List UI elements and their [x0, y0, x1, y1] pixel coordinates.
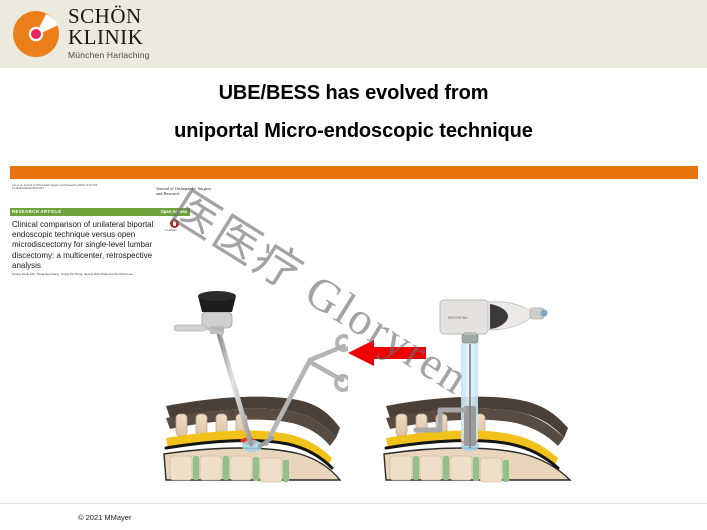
- brand-logo: SCHÖN KLINIK München Harlaching: [12, 8, 187, 60]
- title-line-1: UBE/BESS has evolved from: [0, 74, 707, 112]
- footer-divider: [0, 503, 707, 504]
- journal-article-thumbnail: Kim et al. Journal of Orthopaedic Surger…: [10, 182, 190, 290]
- journal-name: Journal of Orthopaedic Surgery and Resea…: [156, 186, 216, 197]
- article-section-label: RESEARCH ARTICLE: [12, 209, 62, 214]
- biportal-endoscopic-technique-illustration: [148, 288, 348, 483]
- open-access-label: Open Access: [161, 209, 187, 214]
- article-access-band: RESEARCH ARTICLE Open Access: [10, 208, 190, 216]
- brand-line-1: SCHÖN: [68, 6, 150, 26]
- article-authors: Seung-Kook Kim, Sang-Soo Kang, Young-Ho …: [12, 272, 177, 276]
- footer-copyright: © 2021 MMayer: [78, 513, 131, 522]
- crossmark-icon: [170, 219, 179, 228]
- schoen-klinik-circle-logo-icon: [12, 10, 60, 58]
- brand-wordmark: SCHÖN KLINIK München Harlaching: [68, 6, 150, 60]
- slide-title: UBE/BESS has evolved from uniportal Micr…: [0, 74, 707, 150]
- article-title: Clinical comparison of unilateral biport…: [12, 220, 162, 271]
- brand-line-2: KLINIK: [68, 27, 150, 47]
- title-line-2: uniportal Micro-endoscopic technique: [0, 112, 707, 150]
- svg-text:MEDTRONIC: MEDTRONIC: [448, 316, 469, 320]
- slide: SCHÖN KLINIK München Harlaching UBE/BESS…: [0, 0, 707, 530]
- article-citation: Kim et al. Journal of Orthopaedic Surger…: [12, 184, 117, 191]
- brand-subtitle: München Harlaching: [68, 50, 150, 60]
- orange-divider: [10, 166, 698, 179]
- uniportal-microendoscopic-technique-illustration: MEDTRONIC: [378, 288, 583, 483]
- handheld-endoscopic-device: MEDTRONIC: [440, 300, 548, 343]
- slide-header: SCHÖN KLINIK München Harlaching: [0, 0, 707, 68]
- crossmark-label: CrossMark: [165, 229, 177, 232]
